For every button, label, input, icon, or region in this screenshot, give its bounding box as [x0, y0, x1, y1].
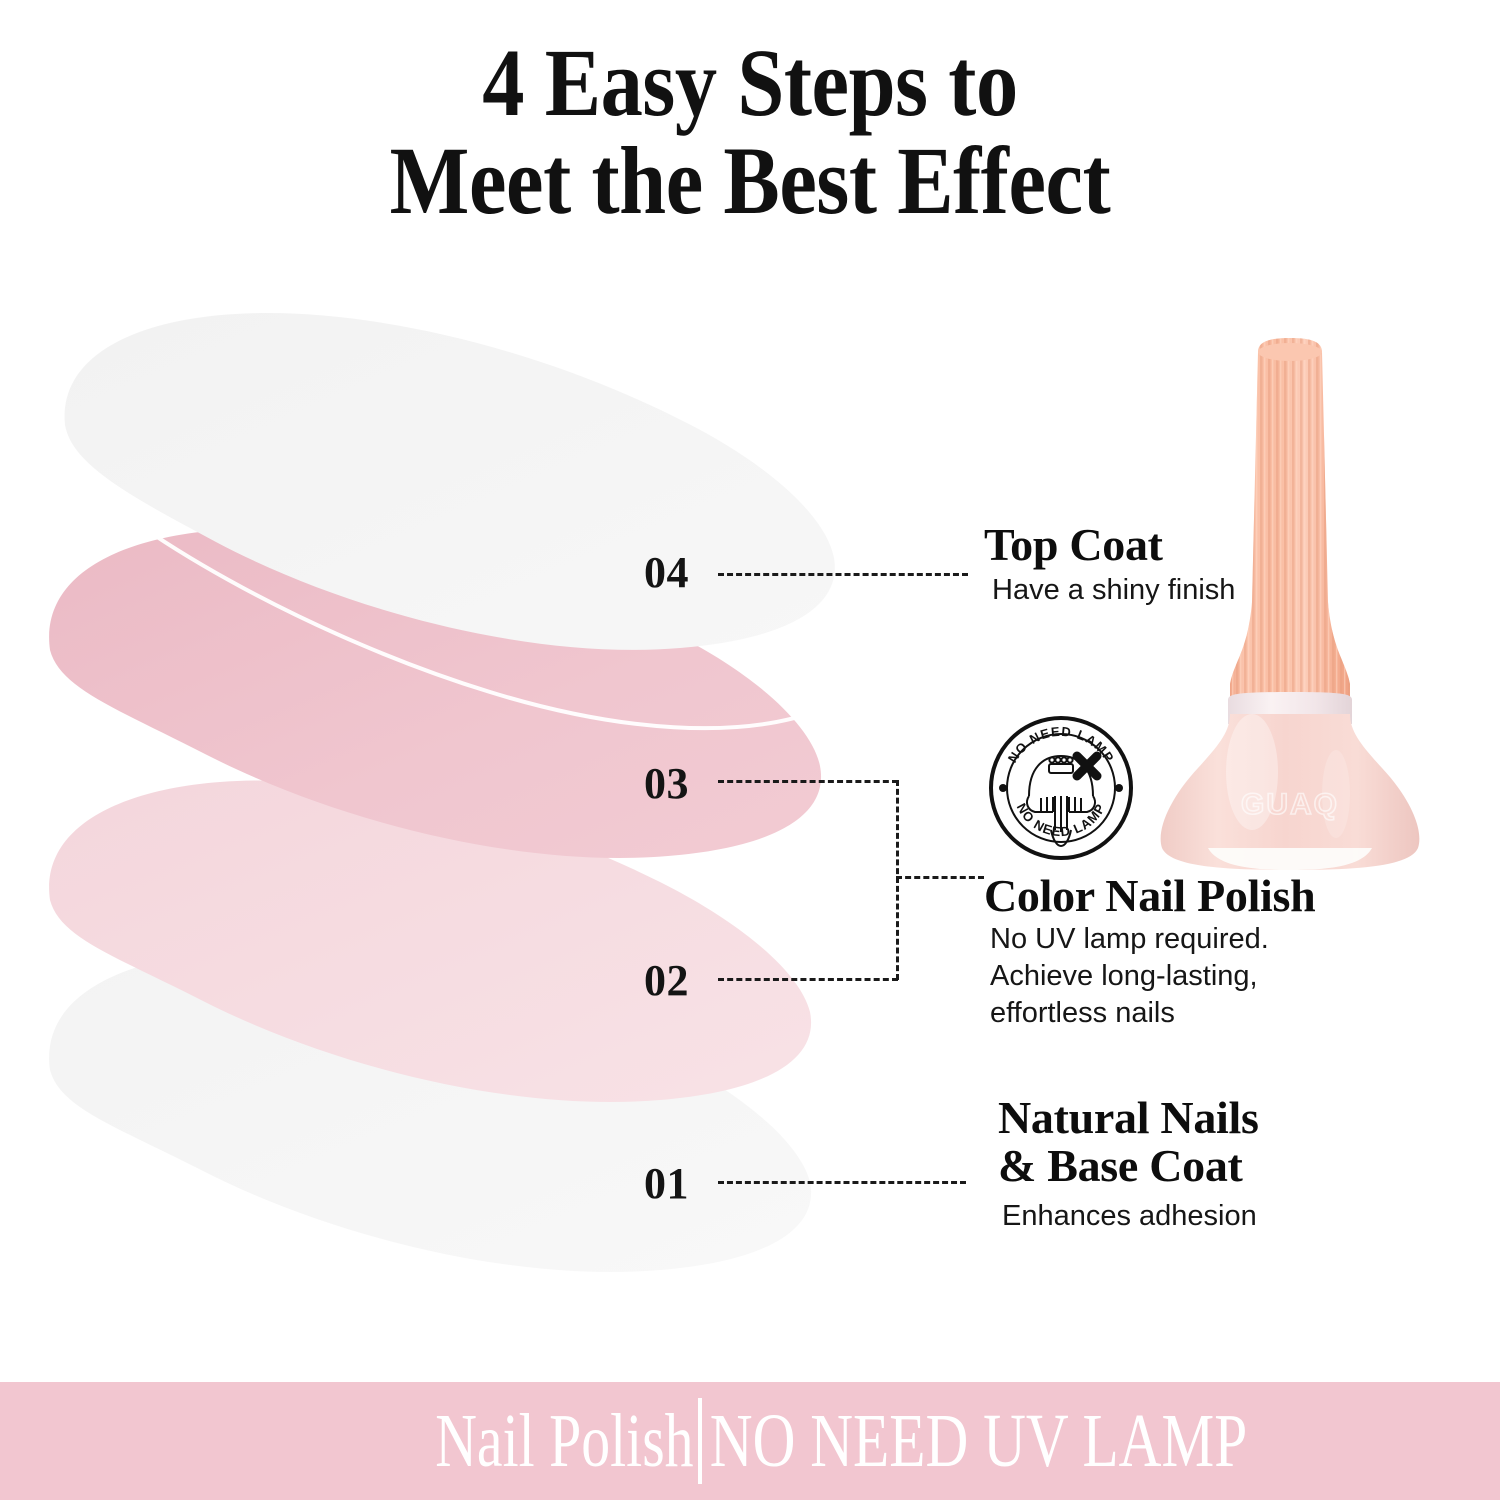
step-bracket-stub	[896, 876, 984, 879]
step-number-04: 04	[644, 547, 689, 598]
title-line-2: Meet the Best Effect	[90, 132, 1410, 230]
no-need-lamp-stamp: NO NEED LAMP NO NEED LAMP	[985, 712, 1137, 864]
step-03-subtitle: No UV lamp required. Achieve long-lastin…	[990, 921, 1269, 1032]
title-line-1: 4 Easy Steps to	[90, 34, 1410, 132]
step-02-connector	[718, 978, 898, 981]
nail-polish-bottle: GUAQ	[1140, 332, 1440, 872]
banner-right-text: NO NEED UV LAMP	[702, 1398, 1324, 1485]
bottom-banner: Nail Polish NO NEED UV LAMP	[0, 1382, 1500, 1500]
step-number-03: 03	[644, 758, 689, 809]
bottle-brand-emboss: GUAQ	[1241, 788, 1339, 821]
step-number-01: 01	[644, 1158, 689, 1209]
step-03-connector	[718, 780, 898, 783]
step-01-connector	[718, 1181, 966, 1184]
step-bracket-vertical	[896, 780, 899, 980]
bottle-cap	[1230, 338, 1350, 698]
bottle-body: GUAQ	[1161, 714, 1420, 870]
page-title: 4 Easy Steps to Meet the Best Effect	[0, 34, 1500, 230]
infographic-page: 4 Easy Steps to Meet the Best Effect	[0, 0, 1500, 1500]
banner-left-text: Nail Polish	[168, 1398, 699, 1485]
step-04-connector	[718, 573, 968, 576]
step-01-subtitle: Enhances adhesion	[1002, 1198, 1257, 1235]
step-03-heading: Color Nail Polish	[984, 872, 1315, 920]
step-04-heading: Top Coat	[984, 521, 1163, 569]
step-01-heading: Natural Nails & Base Coat	[998, 1094, 1259, 1190]
nail-layer-stack	[20, 240, 880, 1330]
step-number-02: 02	[644, 955, 689, 1006]
